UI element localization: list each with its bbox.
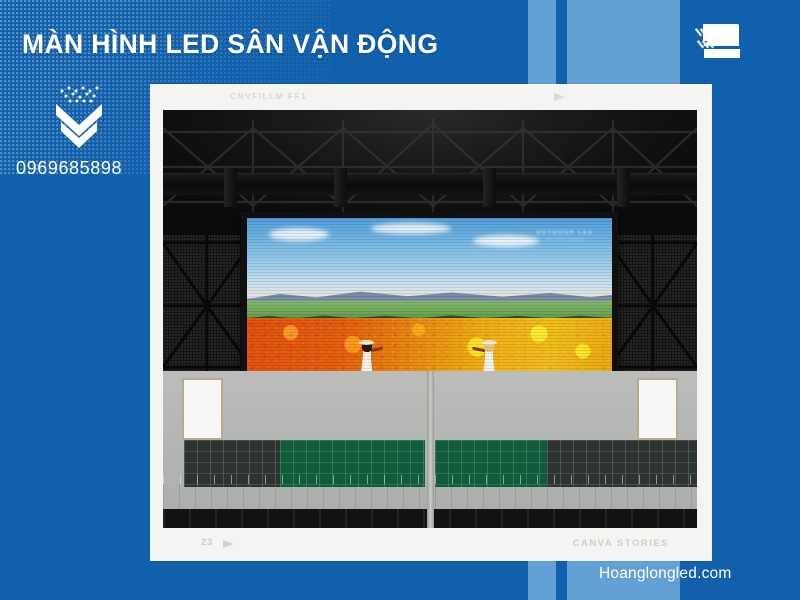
stadium-photograph: OUTDOOR LED full color display bbox=[163, 110, 697, 528]
page-title: MÀN HÌNH LED SÂN VẬN ĐỘNG bbox=[22, 31, 438, 59]
card-top-label: CNVFILLM FF1 bbox=[230, 91, 307, 101]
card-bottom-label: CANVA STORIES bbox=[573, 538, 669, 549]
stadium-mesh-panel-right bbox=[609, 235, 697, 373]
banner-image: MÀN HÌNH LED SÂN VẬN ĐỘNG 0969685898 bbox=[0, 0, 800, 600]
led-content-watermark: OUTDOOR LED full color display bbox=[536, 230, 594, 241]
photo-frame-card: CNVFILLM FF1 bbox=[150, 84, 712, 561]
phone-number: 0969685898 bbox=[16, 158, 122, 179]
hexagon-z-logo-icon bbox=[683, 8, 757, 80]
card-top-toolbar: CNVFILLM FF1 bbox=[150, 84, 712, 110]
play-triangle-icon bbox=[223, 540, 234, 548]
grandstand-center-post bbox=[427, 371, 433, 528]
play-triangle-icon bbox=[554, 93, 565, 101]
led-green-field bbox=[247, 301, 612, 319]
double-chevron-down-icon bbox=[48, 84, 110, 150]
grandstand bbox=[163, 371, 697, 528]
card-page-number: 23 bbox=[201, 537, 213, 548]
stadium-mesh-panel-left bbox=[163, 235, 251, 373]
sun-hat bbox=[482, 340, 497, 345]
roof-pillar-left bbox=[224, 168, 237, 207]
website-url: Hoanglongled.com bbox=[599, 565, 731, 583]
roof-pillar-mid-right bbox=[483, 168, 496, 207]
grandstand-doorway-left bbox=[182, 378, 223, 441]
grandstand-doorway-right bbox=[637, 378, 678, 441]
led-watermark-sub: full color display bbox=[536, 236, 594, 241]
cloud bbox=[473, 235, 539, 247]
roof-pillar-mid-left bbox=[334, 168, 347, 207]
roof-pillar-right bbox=[617, 168, 630, 207]
led-screen-content: OUTDOOR LED full color display bbox=[247, 218, 612, 384]
led-video-wall: OUTDOOR LED full color display bbox=[241, 212, 618, 390]
card-bottom-toolbar: 23 CANVA STORIES bbox=[150, 529, 712, 561]
